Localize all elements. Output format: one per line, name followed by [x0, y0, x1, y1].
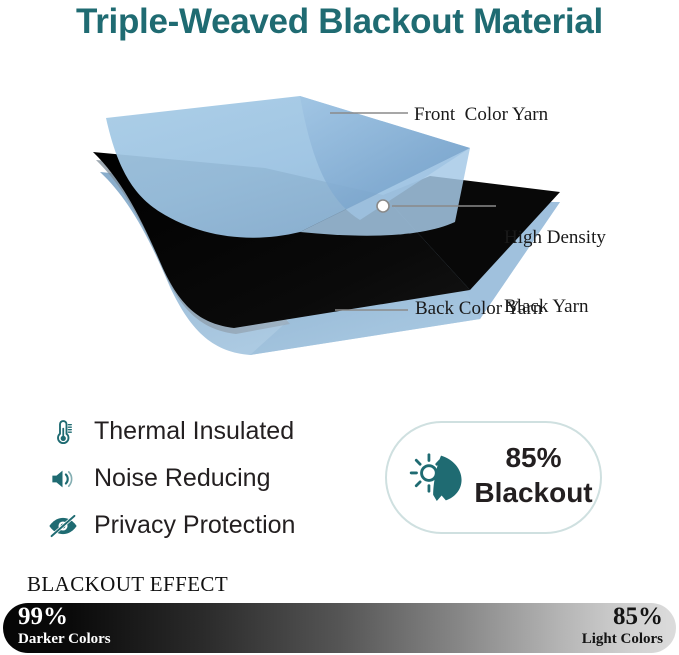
- page-title: Triple-Weaved Blackout Material: [0, 2, 679, 42]
- blackout-effect-heading: BLACKOUT EFFECT: [27, 572, 228, 597]
- blackout-effect-right-stat: 85% Light Colors: [582, 604, 663, 647]
- blackout-effect-right-label: Light Colors: [582, 632, 663, 647]
- infographic-page: Triple-Weaved Blackout Material: [0, 0, 679, 655]
- leader-dot-high-density: [377, 200, 389, 212]
- blackout-badge-label: Blackout: [474, 477, 592, 508]
- callout-label-high-density-line1: High Density: [504, 226, 606, 249]
- speaker-icon: [46, 462, 80, 496]
- blackout-effect-left-stat: 99% Darker Colors: [18, 604, 111, 647]
- feature-label-privacy: Privacy Protection: [94, 511, 295, 540]
- callout-label-back: Back Color Yarn: [415, 297, 542, 320]
- feature-item-privacy: Privacy Protection: [46, 502, 376, 549]
- thermometer-icon: [46, 415, 80, 449]
- feature-label-noise: Noise Reducing: [94, 464, 271, 493]
- blackout-effect-right-percent: 85%: [582, 604, 663, 629]
- blackout-effect-left-label: Darker Colors: [18, 632, 111, 647]
- feature-item-noise: Noise Reducing: [46, 455, 376, 502]
- eye-slash-icon: [46, 509, 80, 543]
- blackout-effect-left-percent: 99%: [18, 604, 111, 629]
- callout-label-front: Front Color Yarn: [414, 103, 548, 126]
- sun-curtain-icon: [405, 445, 471, 511]
- feature-label-thermal: Thermal Insulated: [94, 417, 294, 446]
- blackout-badge-text: 85% Blackout: [467, 443, 600, 513]
- blackout-badge: 85% Blackout: [385, 421, 602, 534]
- feature-list: Thermal Insulated Noise Reducing: [46, 408, 376, 549]
- feature-item-thermal: Thermal Insulated: [46, 408, 376, 455]
- blackout-badge-percent: 85%: [505, 442, 561, 473]
- callout-label-high-density: High Density Black Yarn: [504, 180, 606, 364]
